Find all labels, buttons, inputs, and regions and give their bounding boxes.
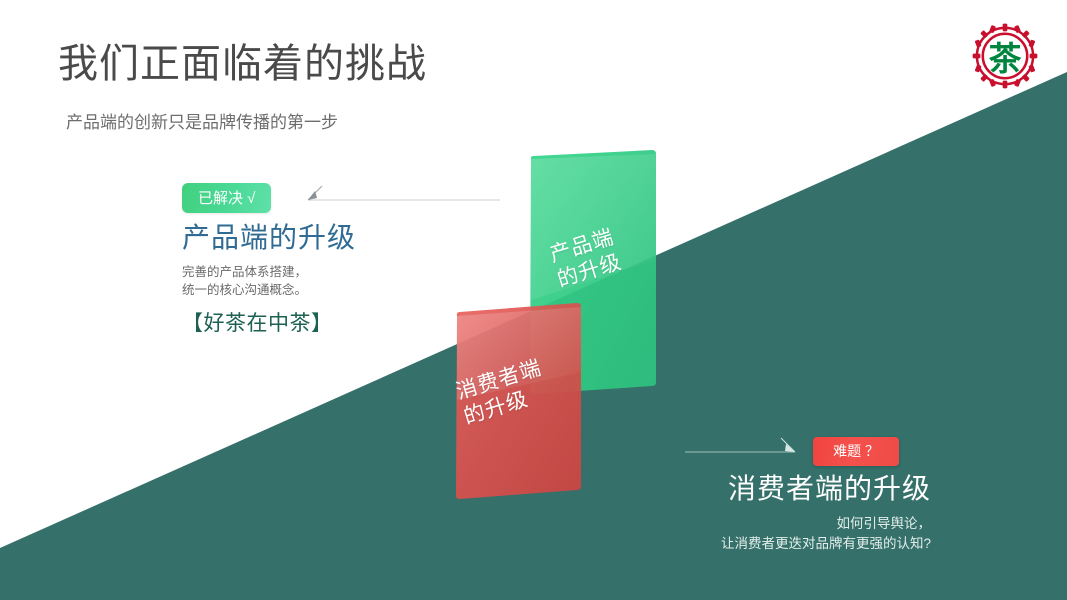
solved-tagline: 【好茶在中茶】 bbox=[182, 307, 512, 337]
status-badge-solved[interactable]: 已解决 √ bbox=[182, 183, 271, 213]
solved-body-line1: 完善的产品体系搭建， bbox=[182, 263, 512, 281]
problem-body-line2: 让消费者更迭对品牌有更强的认知? bbox=[535, 534, 931, 554]
page-subtitle: 产品端的创新只是品牌传播的第一步 bbox=[66, 108, 338, 133]
problem-body-line1: 如何引导舆论， bbox=[535, 514, 931, 534]
solved-body: 完善的产品体系搭建， 统一的核心沟通概念。 bbox=[182, 263, 512, 299]
problem-body: 如何引导舆论， 让消费者更迭对品牌有更强的认知? bbox=[535, 514, 931, 555]
svg-text:茶: 茶 bbox=[989, 40, 1022, 78]
china-tea-logo: 茶 bbox=[963, 17, 1047, 95]
problem-heading: 消费者端的升级 bbox=[535, 474, 931, 505]
page-title: 我们正面临着的挑战 bbox=[58, 42, 427, 87]
solved-body-line2: 统一的核心沟通概念。 bbox=[182, 281, 512, 299]
status-badge-problem[interactable]: 难题 ？ bbox=[813, 437, 899, 466]
solved-heading: 产品端的升级 bbox=[182, 223, 512, 254]
slide-canvas: 产品端 的升级 消费者端 的升级 bbox=[0, 0, 1067, 600]
problem-block: 难题 ？ 消费者端的升级 如何引导舆论， 让消费者更迭对品牌有更强的认知? bbox=[535, 437, 955, 554]
solved-block: 已解决 √ 产品端的升级 完善的产品体系搭建， 统一的核心沟通概念。 【好茶在中… bbox=[182, 183, 512, 337]
